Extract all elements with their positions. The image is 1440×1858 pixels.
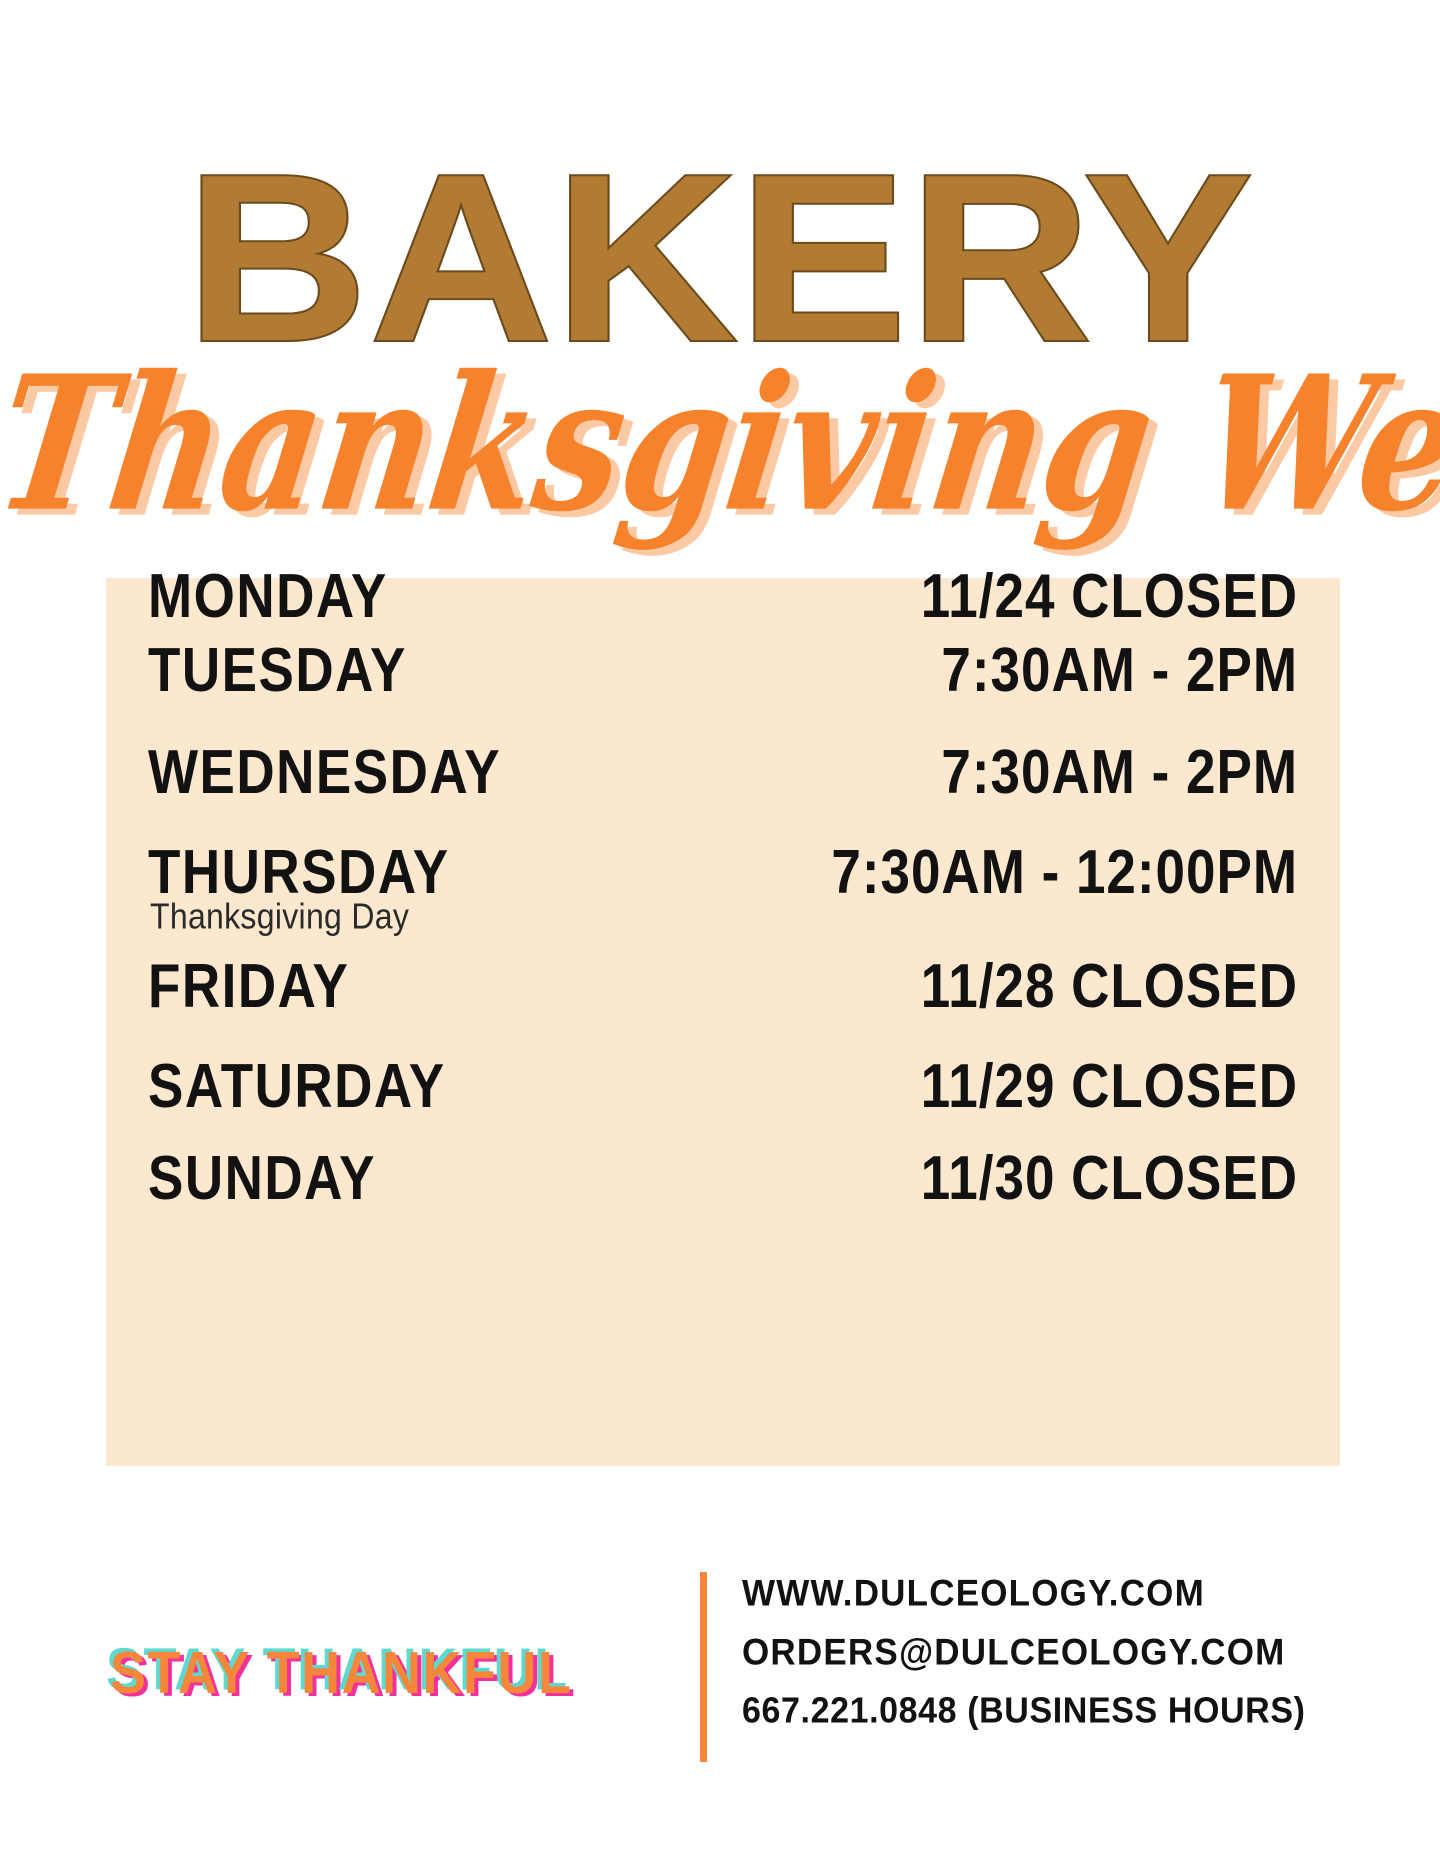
hours-value: 7:30AM - 12:00PM [831, 837, 1298, 909]
phone-line: 667.221.0848 (BUSINESS HOURS) [742, 1691, 1402, 1732]
hours-value: 11/30 CLOSED [921, 1143, 1298, 1215]
footer: STAY THANKFUL WWW.DULCEOLOGY.COMORDERS@D… [0, 1560, 1440, 1820]
day-label: SUNDAY [148, 1143, 376, 1215]
flyer-canvas: BAKERY Thanksgiving Week Thanksgiving We… [0, 0, 1440, 1858]
schedule-rows: MONDAY11/24 CLOSEDTUESDAY7:30AM - 2PMWED… [106, 578, 1340, 1466]
headline-block: BAKERY [0, 150, 1440, 380]
day-label: TUESDAY [148, 635, 407, 707]
script-subtitle-block: Thanksgiving Week Thanksgiving Week [0, 368, 1440, 558]
day-label: WEDNESDAY [148, 737, 501, 809]
day-sublabel: Thanksgiving Day [150, 896, 409, 937]
hours-value: 11/24 CLOSED [921, 561, 1298, 633]
page-title: BAKERY [0, 150, 1440, 369]
day-label: FRIDAY [148, 951, 349, 1023]
day-label: MONDAY [148, 561, 388, 633]
hours-value: 11/28 CLOSED [921, 951, 1298, 1023]
tagline: STAY THANKFUL [110, 1639, 573, 1707]
email-line: ORDERS@DULCEOLOGY.COM [742, 1632, 1402, 1674]
footer-divider [700, 1572, 707, 1762]
hours-value: 7:30AM - 2PM [941, 635, 1298, 707]
hours-value: 7:30AM - 2PM [941, 737, 1298, 809]
website-line: WWW.DULCEOLOGY.COM [742, 1573, 1402, 1615]
contact-block: WWW.DULCEOLOGY.COMORDERS@DULCEOLOGY.COM6… [742, 1574, 1402, 1750]
hours-value: 11/29 CLOSED [921, 1051, 1298, 1123]
day-label: SATURDAY [148, 1051, 446, 1123]
